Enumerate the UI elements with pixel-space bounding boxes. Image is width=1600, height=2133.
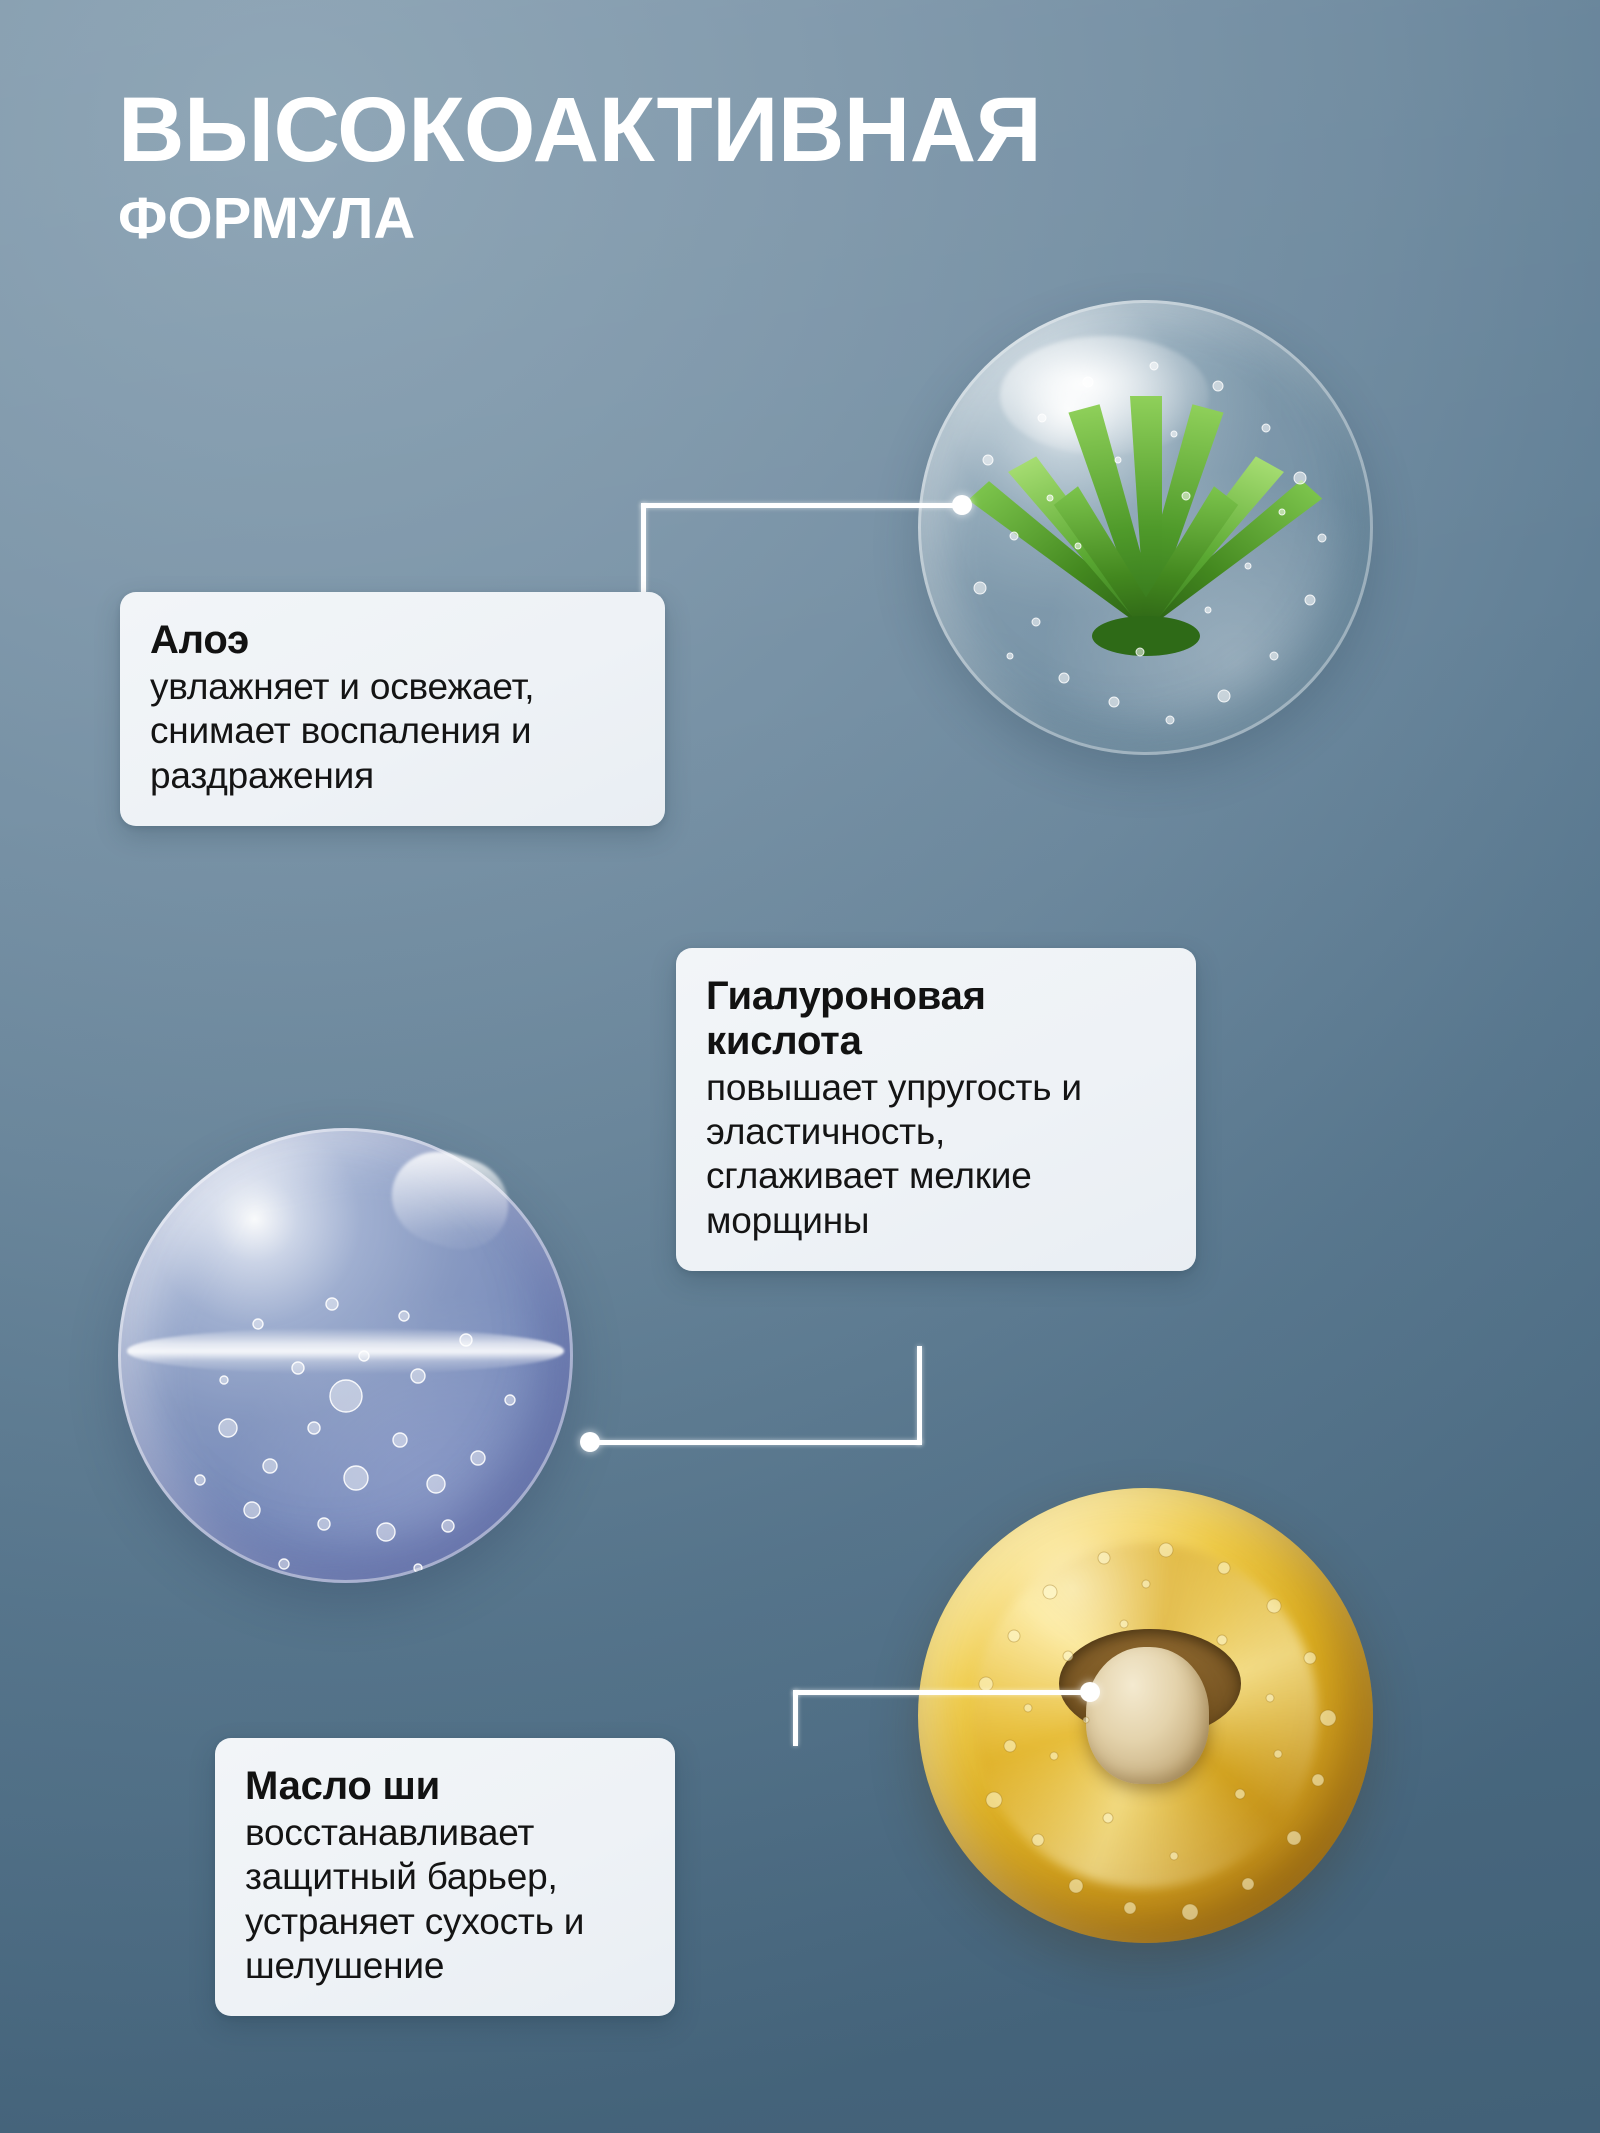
shea-nut-icon bbox=[1086, 1647, 1209, 1784]
connector-line-horizontal bbox=[793, 1690, 1091, 1695]
shea-butter-sphere bbox=[918, 1488, 1373, 1943]
aloe-sphere bbox=[918, 300, 1373, 755]
connector-line-vertical bbox=[641, 503, 646, 595]
page-title: ВЫСОКОАКТИВНАЯ bbox=[118, 84, 1041, 176]
card-title: Масло ши bbox=[245, 1764, 645, 1809]
header-block: ВЫСОКОАКТИВНАЯ ФОРМУЛА bbox=[118, 84, 1041, 248]
ingredient-card-aloe[interactable]: Алоэ увлажняет и освежает, снимает воспа… bbox=[120, 592, 665, 826]
hyaluronic-acid-sphere bbox=[118, 1128, 573, 1583]
sphere-rim bbox=[918, 300, 1373, 755]
page-subtitle: ФОРМУЛА bbox=[118, 190, 1041, 248]
ingredient-card-hyaluronic[interactable]: Гиалуроновая кислота повышает упругость … bbox=[676, 948, 1196, 1271]
connector-line-vertical bbox=[793, 1690, 798, 1746]
card-title: Алоэ bbox=[150, 618, 635, 663]
connector-line-horizontal bbox=[588, 1440, 922, 1445]
card-description: увлажняет и освежает, снимает воспаления… bbox=[150, 665, 635, 798]
connector-line-vertical bbox=[917, 1346, 922, 1445]
card-title: Гиалуроновая кислота bbox=[706, 974, 1166, 1064]
card-description: восстанавливает защитный барьер, устраня… bbox=[245, 1811, 645, 1989]
connector-dot bbox=[1080, 1682, 1100, 1702]
infographic-canvas: ВЫСОКОАКТИВНАЯ ФОРМУЛА bbox=[0, 0, 1600, 2133]
ingredient-card-shea[interactable]: Масло ши восстанавливает защитный барьер… bbox=[215, 1738, 675, 2016]
connector-dot bbox=[580, 1432, 600, 1452]
connector-line-horizontal bbox=[641, 503, 971, 508]
connector-dot bbox=[952, 495, 972, 515]
card-description: повышает упругость и эластичность, сглаж… bbox=[706, 1066, 1166, 1244]
sphere-rim bbox=[118, 1128, 573, 1583]
